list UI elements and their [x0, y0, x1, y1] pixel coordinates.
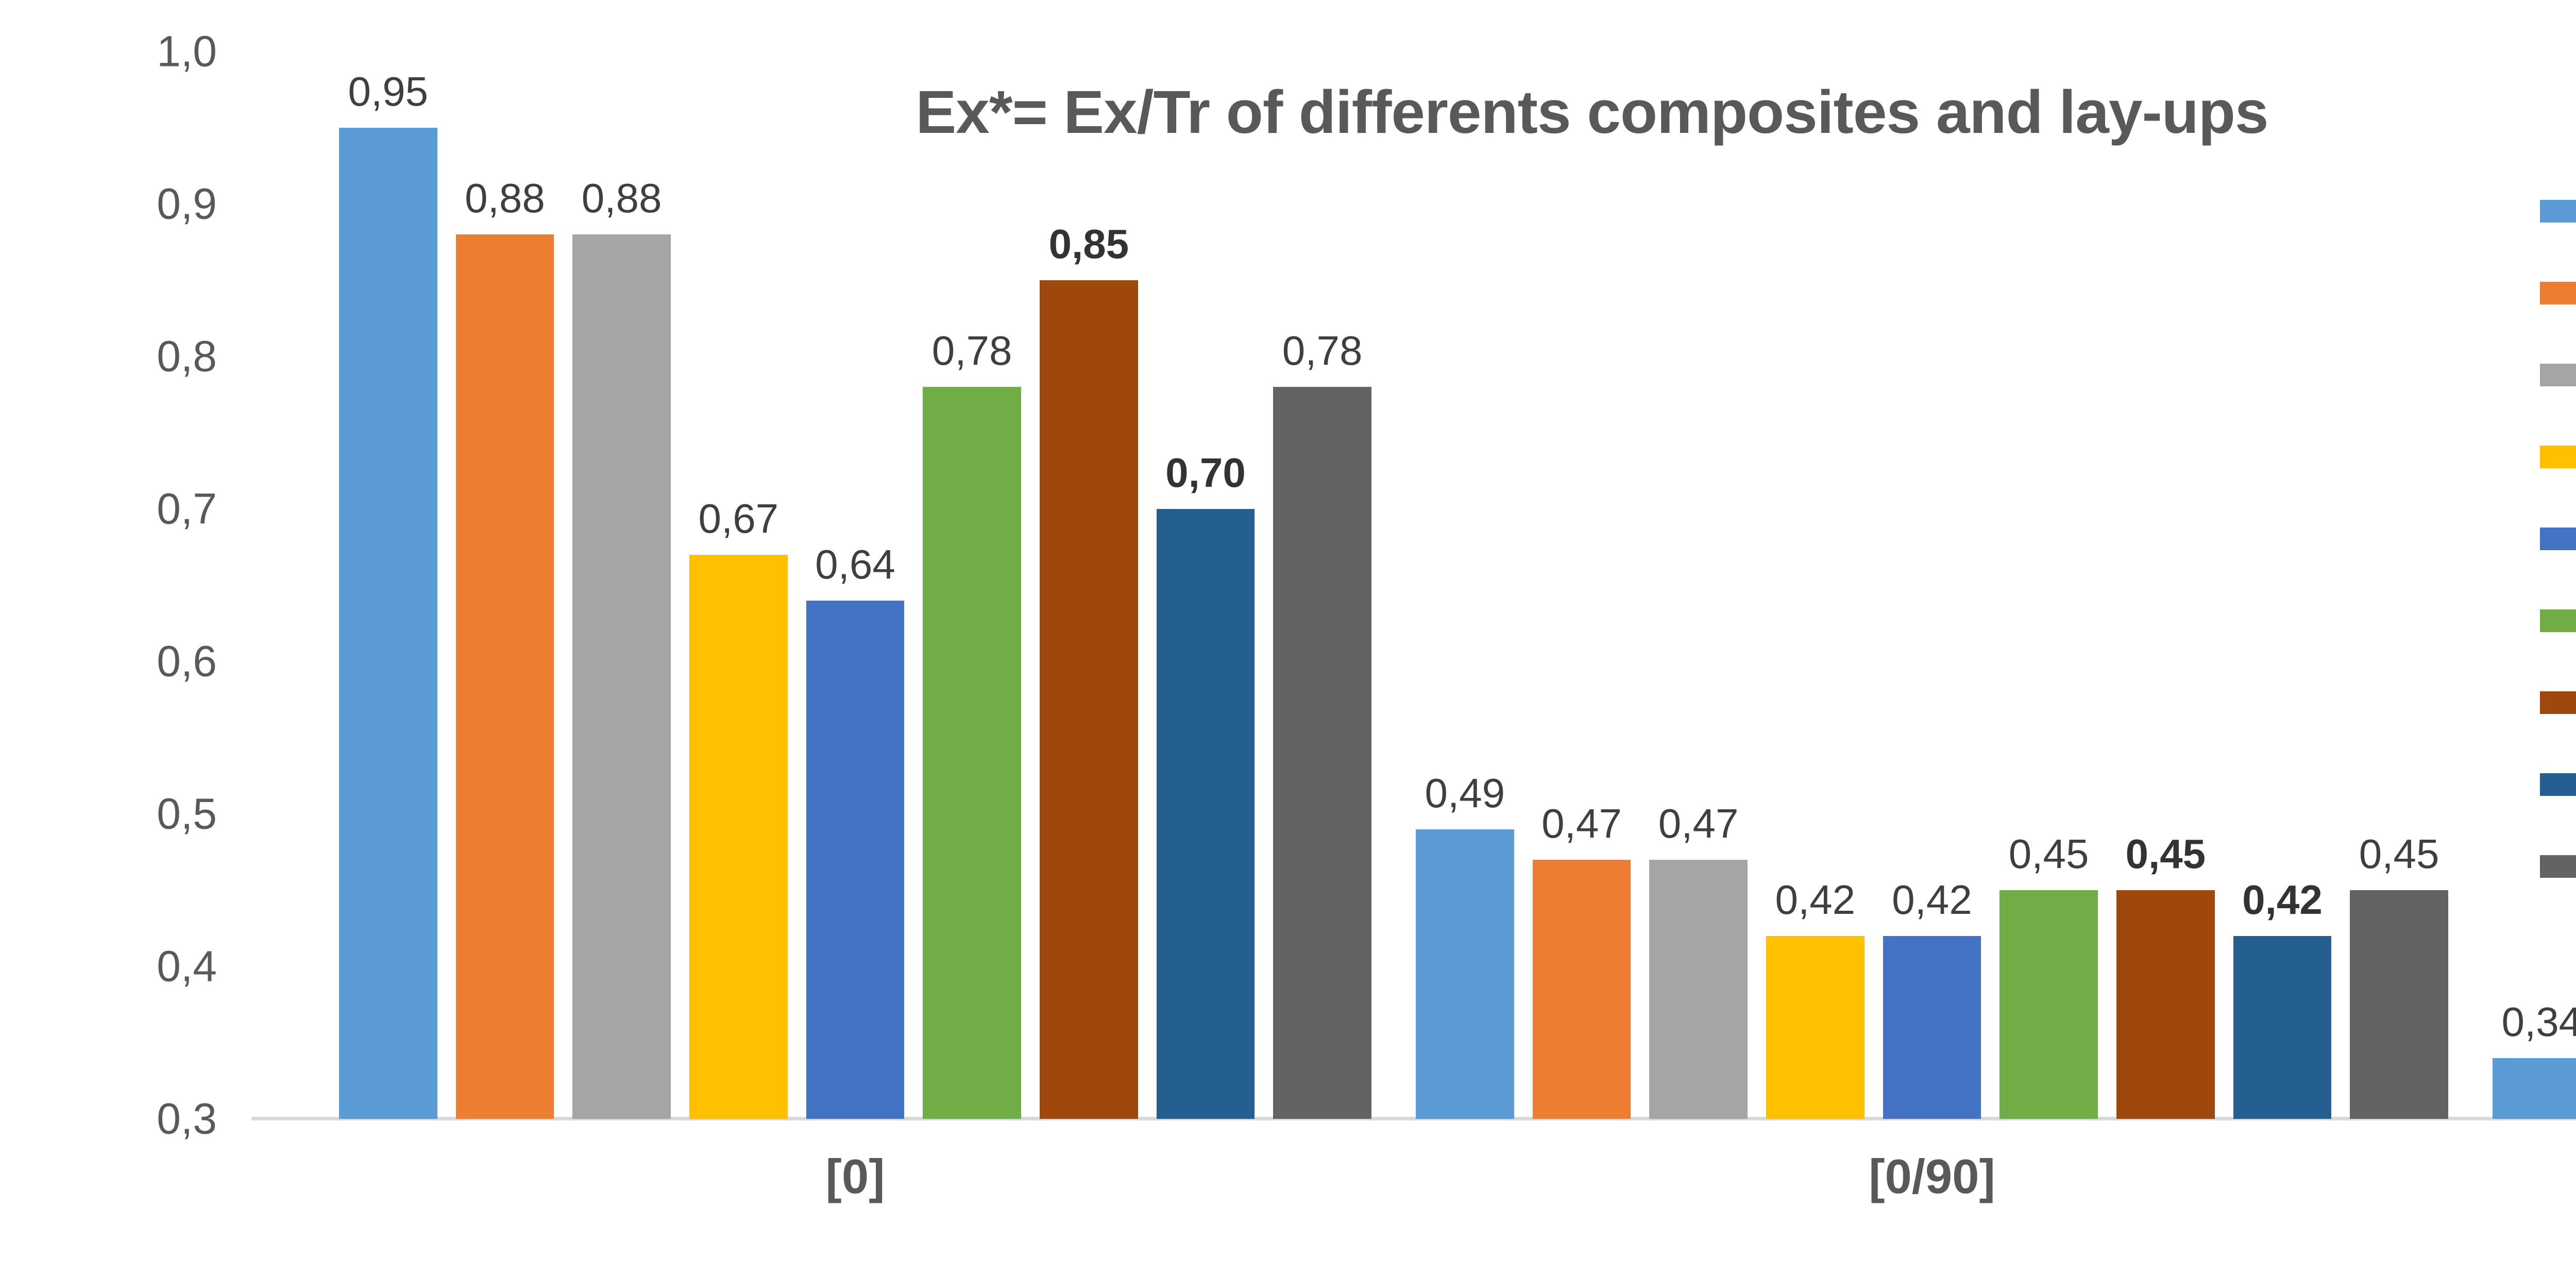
bar-slot: 0,42: [1757, 52, 1874, 1119]
bar[interactable]: [1533, 860, 1631, 1119]
bar-group: 0,490,470,470,420,420,450,450,420,45: [1406, 52, 2458, 1119]
bar-value-label: 0,34: [2458, 998, 2576, 1046]
y-axis-tick-label: 0,3: [0, 1094, 234, 1144]
bar[interactable]: [572, 234, 670, 1119]
x-axis-category-label: [0/90]: [1406, 1149, 2458, 1204]
bar-slot: 0,45: [1990, 52, 2107, 1119]
legend-swatch-icon: [2540, 855, 2576, 878]
bar-group-bars: 0,490,470,470,420,420,450,450,420,45: [1406, 52, 2458, 1119]
bar-group-bars: 0,950,880,880,670,640,780,850,700,78: [330, 52, 1381, 1119]
y-axis-tick-label: 0,9: [0, 179, 234, 229]
legend-item-hi-mod-cfrp[interactable]: Hi Mod CFRP: [2540, 170, 2576, 252]
bar[interactable]: [1999, 890, 2097, 1119]
bar[interactable]: [2350, 890, 2448, 1119]
y-axis-tick-label: 0,6: [0, 637, 234, 687]
bar[interactable]: [1157, 509, 1255, 1119]
y-axis-tick-label: 0,5: [0, 789, 234, 839]
bar[interactable]: [923, 387, 1021, 1119]
x-axis-category-label: [0]: [330, 1149, 1381, 1204]
legend-item-ffrp[interactable]: FFRP: [2540, 580, 2576, 661]
legend-item-gerp[interactable]: GERP: [2540, 498, 2576, 580]
bar-slot: 0,85: [1030, 52, 1147, 1119]
legend-swatch-icon: [2540, 528, 2576, 550]
bar-slot: 0,78: [1264, 52, 1381, 1119]
bar[interactable]: [1416, 829, 1514, 1119]
bar-value-label: 0,45: [2315, 830, 2483, 878]
y-axis-tick-label: 0,7: [0, 484, 234, 534]
legend-swatch-icon: [2540, 446, 2576, 468]
legend-item-kfrp[interactable]: KFRP: [2540, 334, 2576, 416]
y-axis-tick-label: 0,4: [0, 942, 234, 992]
legend-swatch-icon: [2540, 282, 2576, 304]
legend-swatch-icon: [2540, 609, 2576, 632]
bar-slot: 0,88: [563, 52, 680, 1119]
bar[interactable]: [689, 555, 787, 1119]
bar-slot: 0,78: [913, 52, 1030, 1119]
bar-slot: 0,42: [2224, 52, 2341, 1119]
legend-item-cfrp[interactable]: CFRP: [2540, 252, 2576, 334]
bar-group: 0,950,880,880,670,640,780,850,700,78: [330, 52, 1381, 1119]
chart-legend: Hi Mod CFRPCFRPKFRPGSRPGERPFFRPTreated h…: [2540, 170, 2576, 907]
bar[interactable]: [1040, 280, 1138, 1119]
bar[interactable]: [1273, 387, 1371, 1119]
bar[interactable]: [1766, 936, 1864, 1119]
bar[interactable]: [1883, 936, 1981, 1119]
legend-swatch-icon: [2540, 691, 2576, 714]
chart-container: Ex*= Ex/Tr of differents composites and …: [0, 0, 2576, 1276]
legend-item-treated-hemp[interactable]: Treated hemp: [2540, 661, 2576, 743]
legend-swatch-icon: [2540, 200, 2576, 223]
legend-item-gsrp[interactable]: GSRP: [2540, 416, 2576, 498]
x-axis-category-label: [45/-45]: [2483, 1149, 2576, 1204]
bar-slot: 0,49: [1406, 52, 1523, 1119]
bar[interactable]: [806, 601, 904, 1119]
bar-slot: 0,47: [1640, 52, 1757, 1119]
legend-swatch-icon: [2540, 773, 2576, 796]
bar-slot: 0,45: [2107, 52, 2224, 1119]
bar-slot: 0,64: [797, 52, 914, 1119]
bar-slot: 0,45: [2341, 52, 2458, 1119]
legend-item-untreated-kenaf[interactable]: Untreated Kenaf: [2540, 825, 2576, 907]
bar[interactable]: [2493, 1058, 2576, 1119]
bar-slot: 0,42: [1874, 52, 1991, 1119]
plot-area: 0,950,880,880,670,640,780,850,700,780,49…: [251, 52, 2477, 1119]
y-axis-tick-label: 1,0: [0, 27, 234, 77]
bar[interactable]: [339, 128, 437, 1119]
bar[interactable]: [456, 234, 554, 1119]
bar-slot: 0,47: [1523, 52, 1640, 1119]
legend-item-untreated-hemp[interactable]: Untreated hemp: [2540, 743, 2576, 825]
y-axis-tick-label: 0,8: [0, 332, 234, 382]
y-axis: 1,00,90,80,70,60,50,40,3: [0, 52, 234, 1119]
bar-slot: 0,70: [1147, 52, 1264, 1119]
bar-value-label: 0,78: [1238, 327, 1406, 375]
bar[interactable]: [2233, 936, 2331, 1119]
legend-swatch-icon: [2540, 364, 2576, 386]
bar[interactable]: [2116, 890, 2214, 1119]
